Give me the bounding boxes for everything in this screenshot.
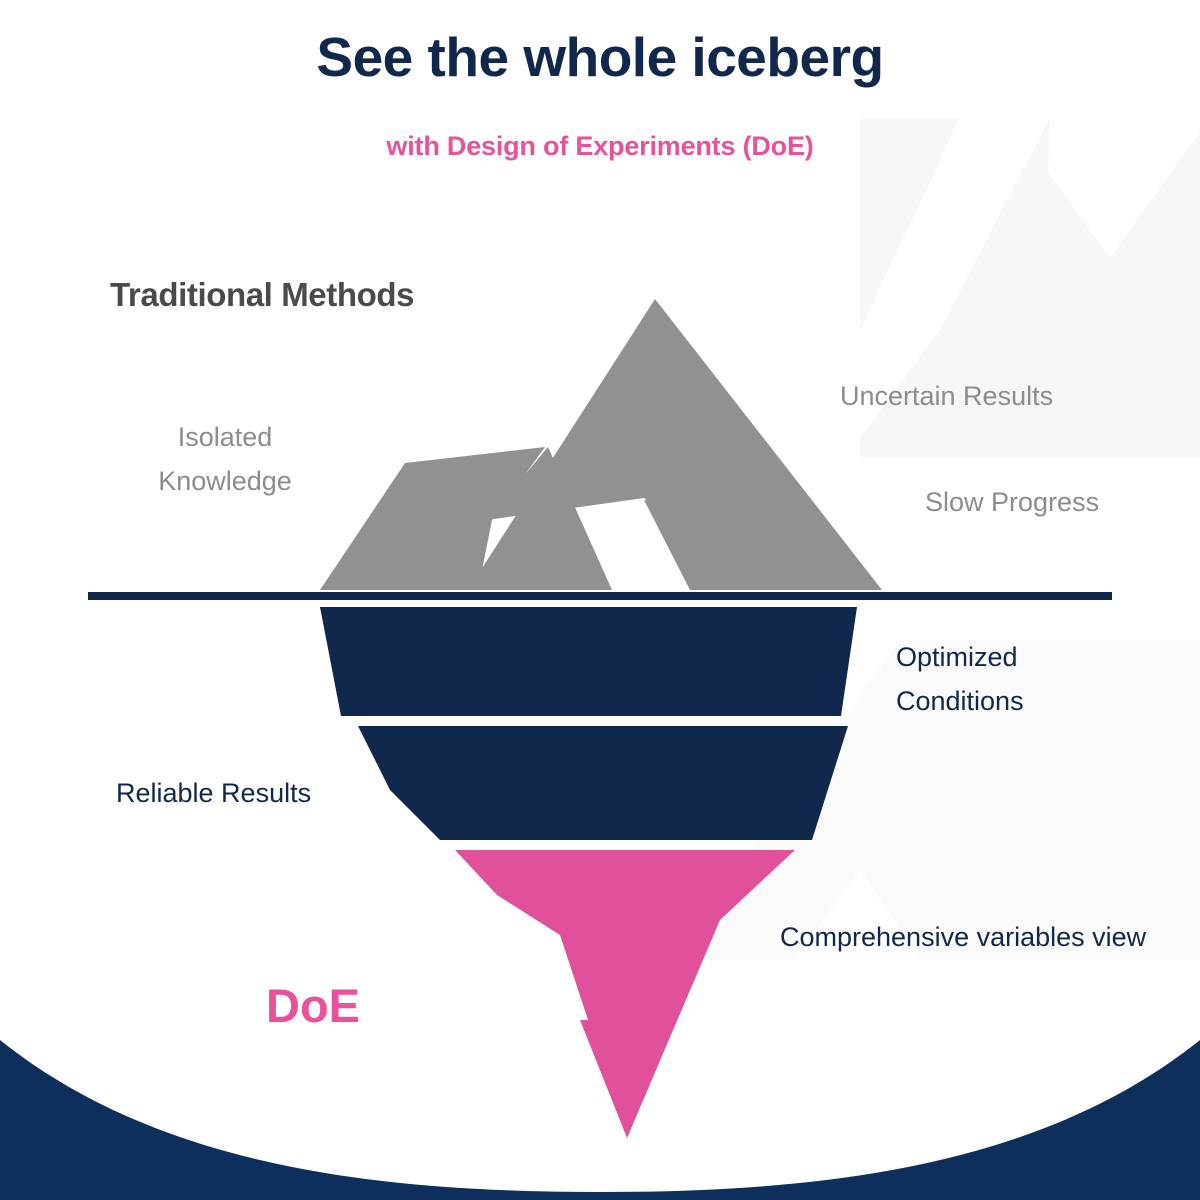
underwater-segment-1 — [320, 607, 857, 716]
iceberg-tip-group — [320, 299, 882, 590]
heading-doe: DoE — [266, 978, 360, 1033]
label-uncertain-results: Uncertain Results — [840, 378, 1053, 416]
waterline — [88, 592, 1112, 600]
label-optimized-conditions: Optimized Conditions — [896, 636, 1136, 723]
label-reliable-results: Reliable Results — [116, 775, 311, 813]
underwater-segment-3-pink-overlay — [580, 1020, 676, 1138]
label-slow-progress: Slow Progress — [925, 484, 1099, 522]
heading-traditional-methods: Traditional Methods — [110, 276, 414, 314]
label-comprehensive-variables-view: Comprehensive variables view — [780, 916, 1180, 960]
underwater-segment-2 — [358, 726, 848, 840]
label-isolated-knowledge: IsolatedKnowledge — [135, 416, 315, 503]
iceberg-illustration — [0, 0, 1200, 1200]
infographic-canvas: See the whole iceberg with Design of Exp… — [0, 0, 1200, 1200]
page-subtitle: with Design of Experiments (DoE) — [0, 130, 1200, 162]
page-title: See the whole iceberg — [0, 26, 1200, 89]
